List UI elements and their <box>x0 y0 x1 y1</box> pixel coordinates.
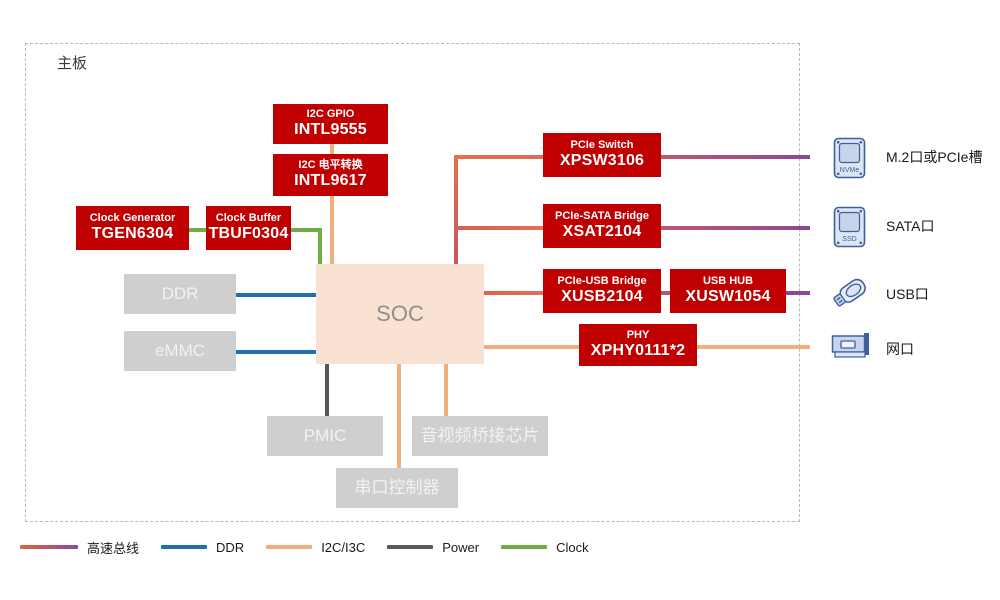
block-soc-label: SOC <box>376 301 424 326</box>
line-soc-to-pcie-usb <box>484 291 543 295</box>
legend-label-high-speed-bus: 高速总线 <box>87 538 139 557</box>
chip-pcie-usb-subtitle: PCIe-USB Bridge <box>557 275 646 288</box>
line-soc-to-pmic <box>325 364 329 416</box>
chip-clock-generator[interactable]: Clock Generator TGEN6304 <box>76 206 189 250</box>
chip-pcie-sata-bridge[interactable]: PCIe-SATA Bridge XSAT2104 <box>543 204 661 248</box>
block-pmic-label: PMIC <box>304 426 347 446</box>
chip-phy-part: XPHY0111*2 <box>591 342 686 360</box>
line-phy-to-network-port <box>697 345 810 349</box>
block-serial-controller-label: 串口控制器 <box>355 478 440 498</box>
block-ddr[interactable]: DDR <box>124 274 236 314</box>
legend-label-power: Power <box>442 540 479 555</box>
svg-text:SSD: SSD <box>842 236 856 243</box>
nvme-ssd-icon: NVMe <box>833 137 866 179</box>
chip-i2c-level-shifter[interactable]: I2C 电平转换 INTL9617 <box>273 154 388 196</box>
chip-phy[interactable]: PHY XPHY0111*2 <box>579 324 697 366</box>
motherboard-title: 主板 <box>57 52 87 73</box>
chip-pcie-usb-bridge[interactable]: PCIe-USB Bridge XUSB2104 <box>543 269 661 313</box>
chip-usb-hub-subtitle: USB HUB <box>703 275 753 288</box>
legend-item-i2c-i3c: I2C/I3C <box>266 540 365 555</box>
chip-clock-buffer-part: TBUF0304 <box>209 225 289 243</box>
line-emmc-to-soc <box>234 350 316 354</box>
line-bus-riser <box>454 155 458 265</box>
legend: 高速总线 DDR I2C/I3C Power Clock <box>20 536 611 558</box>
peripheral-label-usb-port: USB口 <box>886 284 929 304</box>
line-soc-to-serial-ctrl <box>397 364 401 468</box>
line-i2c-gpio-to-level <box>330 144 334 154</box>
chip-i2c-level-part: INTL9617 <box>294 172 367 190</box>
chip-pcie-sata-part: XSAT2104 <box>563 223 642 241</box>
block-ddr-label: DDR <box>162 284 199 304</box>
line-bus-to-pcie-sata <box>454 226 543 230</box>
line-usb-hub-to-usb-port <box>786 291 810 295</box>
chip-usb-hub-part: XUSW1054 <box>685 288 770 306</box>
peripheral-label-network-port: 网口 <box>886 339 914 359</box>
legend-swatch-high-speed-bus <box>20 545 78 549</box>
network-card-icon <box>831 332 873 362</box>
block-soc[interactable]: SOC <box>316 264 484 364</box>
legend-label-ddr: DDR <box>216 540 244 555</box>
chip-i2c-gpio-part: INTL9555 <box>294 121 367 139</box>
svg-text:NVMe: NVMe <box>840 167 860 174</box>
line-pcie-switch-to-m2 <box>661 155 810 159</box>
legend-label-i2c-i3c: I2C/I3C <box>321 540 365 555</box>
legend-item-high-speed-bus: 高速总线 <box>20 538 139 557</box>
block-emmc-label: eMMC <box>155 341 205 361</box>
line-ddr-to-soc <box>234 293 316 297</box>
block-serial-controller[interactable]: 串口控制器 <box>336 468 458 508</box>
line-i2c-level-to-soc <box>330 196 334 264</box>
line-soc-to-av-bridge <box>444 364 448 416</box>
chip-pcie-switch-part: XPSW3106 <box>560 152 644 170</box>
line-bus-to-pcie-switch <box>454 155 543 159</box>
chip-i2c-gpio[interactable]: I2C GPIO INTL9555 <box>273 104 388 144</box>
chip-pcie-switch[interactable]: PCIe Switch XPSW3106 <box>543 133 661 177</box>
legend-label-clock: Clock <box>556 540 589 555</box>
chip-clock-generator-subtitle: Clock Generator <box>90 212 176 225</box>
legend-item-ddr: DDR <box>161 540 244 555</box>
usb-flash-drive-icon <box>830 272 872 312</box>
chip-clock-buffer-subtitle: Clock Buffer <box>216 212 281 225</box>
legend-swatch-power <box>387 545 433 549</box>
legend-item-clock: Clock <box>501 540 589 555</box>
legend-item-power: Power <box>387 540 479 555</box>
chip-i2c-gpio-subtitle: I2C GPIO <box>307 108 355 121</box>
line-clock-buffer-to-soc-v <box>318 228 322 264</box>
chip-pcie-switch-subtitle: PCIe Switch <box>571 139 634 152</box>
line-clock-gen-to-buffer <box>189 228 206 232</box>
line-soc-to-phy <box>484 345 579 349</box>
block-av-bridge-label: 音视频桥接芯片 <box>421 426 540 446</box>
peripheral-label-m2-pcie: M.2口或PCIe槽 <box>886 147 982 167</box>
chip-phy-subtitle: PHY <box>627 329 650 342</box>
legend-swatch-clock <box>501 545 547 549</box>
chip-clock-generator-part: TGEN6304 <box>92 225 174 243</box>
line-pcie-usb-to-usb-hub <box>661 291 670 295</box>
peripheral-label-sata-port: SATA口 <box>886 216 935 236</box>
chip-clock-buffer[interactable]: Clock Buffer TBUF0304 <box>206 206 291 250</box>
block-av-bridge[interactable]: 音视频桥接芯片 <box>412 416 548 456</box>
block-pmic[interactable]: PMIC <box>267 416 383 456</box>
sata-ssd-icon: SSD <box>833 206 866 248</box>
chip-usb-hub[interactable]: USB HUB XUSW1054 <box>670 269 786 313</box>
chip-pcie-usb-part: XUSB2104 <box>561 288 643 306</box>
legend-swatch-i2c-i3c <box>266 545 312 549</box>
legend-swatch-ddr <box>161 545 207 549</box>
chip-i2c-level-subtitle: I2C 电平转换 <box>298 159 362 172</box>
chip-pcie-sata-subtitle: PCIe-SATA Bridge <box>555 210 649 223</box>
diagram-canvas: 主板 I2C GPIO INTL9555 I2C 电平转换 INTL9617 <box>0 0 1000 600</box>
block-emmc[interactable]: eMMC <box>124 331 236 371</box>
line-pcie-sata-to-sata <box>661 226 810 230</box>
